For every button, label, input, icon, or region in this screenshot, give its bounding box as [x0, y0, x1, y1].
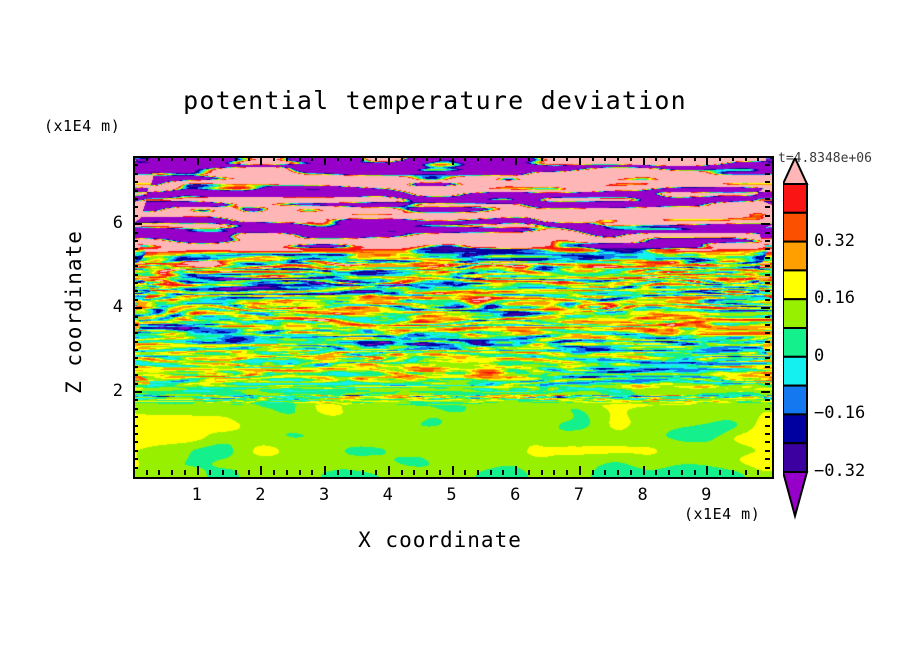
- x-tick-minor: [158, 470, 160, 475]
- x-tick-minor: [553, 470, 555, 475]
- x-tick-minor-top: [146, 156, 148, 161]
- x-tick-minor-top: [158, 156, 160, 161]
- x-tick-minor-top: [350, 156, 352, 161]
- x-tick-minor-top: [732, 156, 734, 161]
- x-tick-minor: [464, 470, 466, 475]
- x-tick-major: [706, 466, 708, 475]
- x-tick-minor: [350, 470, 352, 475]
- colorbar-overflow-arrow-top: [783, 158, 807, 184]
- x-tick-minor: [592, 470, 594, 475]
- x-tick-minor: [337, 470, 339, 475]
- x-tick-minor-top: [719, 156, 721, 161]
- y-tick-minor-right: [765, 341, 770, 343]
- x-tick-minor: [426, 470, 428, 475]
- y-tick-minor-right: [765, 450, 770, 452]
- y-tick-minor-right: [765, 173, 770, 175]
- x-tick-major-top: [643, 156, 645, 165]
- colorbar-segment: [783, 414, 807, 443]
- x-tick-minor-top: [617, 156, 619, 161]
- x-tick-minor-top: [311, 156, 313, 161]
- x-tick-minor: [439, 470, 441, 475]
- x-tick-label: 3: [309, 485, 339, 505]
- x-tick-minor-top: [171, 156, 173, 161]
- x-tick-major: [643, 466, 645, 475]
- x-tick-minor-top: [464, 156, 466, 161]
- x-tick-major-top: [388, 156, 390, 165]
- y-tick-minor-right: [765, 349, 770, 351]
- y-tick-minor-right: [765, 282, 770, 284]
- y-tick-minor: [133, 425, 138, 427]
- x-tick-minor: [541, 470, 543, 475]
- y-tick-minor: [133, 433, 138, 435]
- colorbar-segment: [783, 357, 807, 386]
- y-tick-minor-right: [765, 232, 770, 234]
- x-tick-major: [388, 466, 390, 475]
- x-tick-minor: [248, 470, 250, 475]
- colorbar-tick-label: −0.16: [814, 403, 865, 423]
- x-tick-minor-top: [592, 156, 594, 161]
- y-tick-minor: [133, 232, 138, 234]
- y-tick-minor-right: [765, 164, 770, 166]
- x-tick-minor: [719, 470, 721, 475]
- y-tick-minor: [133, 332, 138, 334]
- x-tick-major-top: [324, 156, 326, 165]
- heatmap-plot-area[interactable]: [133, 156, 774, 479]
- x-tick-minor-top: [235, 156, 237, 161]
- y-tick-label: 4: [93, 297, 123, 317]
- y-tick-minor: [133, 467, 138, 469]
- colorbar-segment: [783, 443, 807, 472]
- y-tick-minor-right: [765, 324, 770, 326]
- y-tick-minor: [133, 173, 138, 175]
- x-tick-minor-top: [757, 156, 759, 161]
- y-tick-minor-right: [765, 206, 770, 208]
- y-tick-minor: [133, 349, 138, 351]
- x-tick-minor-top: [439, 156, 441, 161]
- y-tick-minor-right: [765, 248, 770, 250]
- colorbar-tick-label: 0: [814, 346, 824, 366]
- x-tick-minor-top: [502, 156, 504, 161]
- x-tick-minor-top: [553, 156, 555, 161]
- x-tick-minor: [146, 470, 148, 475]
- x-tick-minor-top: [604, 156, 606, 161]
- y-tick-minor: [133, 206, 138, 208]
- y-tick-minor: [133, 399, 138, 401]
- x-tick-label: 7: [564, 485, 594, 505]
- x-tick-minor-top: [273, 156, 275, 161]
- y-tick-minor: [133, 408, 138, 410]
- x-tick-minor-top: [286, 156, 288, 161]
- x-tick-minor-top: [541, 156, 543, 161]
- x-axis-title-text: X coordinate: [358, 528, 522, 552]
- x-tick-major-top: [197, 156, 199, 165]
- y-axis-title-text: Z coordinate: [62, 222, 86, 402]
- y-tick-major: [133, 391, 142, 393]
- y-tick-minor-right: [765, 215, 770, 217]
- x-tick-minor: [273, 470, 275, 475]
- page-title-text: potential temperature deviation: [183, 86, 687, 115]
- x-tick-minor-top: [426, 156, 428, 161]
- y-axis-title: Z coordinate: [62, 226, 86, 324]
- figure-root: potential temperature deviation (x1E4 m)…: [0, 0, 904, 654]
- y-tick-minor: [133, 248, 138, 250]
- x-tick-minor-top: [681, 156, 683, 161]
- x-tick-major-top: [515, 156, 517, 165]
- y-tick-minor: [133, 282, 138, 284]
- x-tick-minor-top: [362, 156, 364, 161]
- x-tick-minor: [286, 470, 288, 475]
- x-tick-minor: [209, 470, 211, 475]
- y-axis-unit-label: (x1E4 m): [44, 117, 120, 135]
- colorbar-tick-label: 0.32: [814, 231, 855, 251]
- y-tick-minor-right: [765, 408, 770, 410]
- y-tick-minor: [133, 190, 138, 192]
- x-tick-minor: [477, 470, 479, 475]
- y-tick-minor-right: [765, 316, 770, 318]
- x-tick-minor: [362, 470, 364, 475]
- x-axis-unit-label: (x1E4 m): [684, 505, 760, 523]
- y-tick-minor: [133, 441, 138, 443]
- page-title: potential temperature deviation: [0, 86, 904, 115]
- colorbar-segment: [783, 328, 807, 357]
- x-tick-minor: [681, 470, 683, 475]
- y-tick-minor: [133, 366, 138, 368]
- y-tick-minor-right: [765, 274, 770, 276]
- x-tick-label: 2: [245, 485, 275, 505]
- x-tick-minor: [617, 470, 619, 475]
- x-tick-minor-top: [413, 156, 415, 161]
- x-tick-label: 1: [182, 485, 212, 505]
- y-tick-minor: [133, 357, 138, 359]
- y-tick-minor-right: [765, 332, 770, 334]
- y-tick-minor: [133, 458, 138, 460]
- y-tick-minor-right: [765, 257, 770, 259]
- x-tick-minor: [745, 470, 747, 475]
- y-tick-major-right: [761, 223, 770, 225]
- x-tick-major: [324, 466, 326, 475]
- y-tick-minor: [133, 240, 138, 242]
- x-tick-minor: [668, 470, 670, 475]
- x-tick-minor: [299, 470, 301, 475]
- x-tick-minor: [757, 470, 759, 475]
- x-tick-minor-top: [655, 156, 657, 161]
- x-tick-major-top: [706, 156, 708, 165]
- x-tick-minor-top: [566, 156, 568, 161]
- x-tick-minor-top: [477, 156, 479, 161]
- colorbar-segment: [783, 270, 807, 299]
- y-tick-minor: [133, 181, 138, 183]
- x-tick-minor-top: [299, 156, 301, 161]
- y-tick-minor: [133, 198, 138, 200]
- x-tick-major: [260, 466, 262, 475]
- x-tick-minor-top: [694, 156, 696, 161]
- y-tick-label: 2: [93, 381, 123, 401]
- y-tick-minor-right: [765, 433, 770, 435]
- y-tick-minor-right: [765, 425, 770, 427]
- y-tick-minor: [133, 164, 138, 166]
- x-tick-minor-top: [668, 156, 670, 161]
- x-tick-major-top: [260, 156, 262, 165]
- y-tick-minor-right: [765, 190, 770, 192]
- x-tick-minor-top: [528, 156, 530, 161]
- x-tick-label: 8: [628, 485, 658, 505]
- x-tick-minor-top: [248, 156, 250, 161]
- y-tick-minor-right: [765, 416, 770, 418]
- x-tick-minor-top: [745, 156, 747, 161]
- x-tick-minor-top: [184, 156, 186, 161]
- y-tick-minor-right: [765, 383, 770, 385]
- x-tick-minor-top: [337, 156, 339, 161]
- y-tick-minor: [133, 257, 138, 259]
- x-tick-minor-top: [401, 156, 403, 161]
- y-tick-minor-right: [765, 265, 770, 267]
- y-tick-minor-right: [765, 299, 770, 301]
- x-tick-minor: [694, 470, 696, 475]
- y-tick-major-right: [761, 307, 770, 309]
- x-tick-label: 4: [373, 485, 403, 505]
- y-tick-minor: [133, 215, 138, 217]
- x-tick-minor: [490, 470, 492, 475]
- x-tick-minor: [566, 470, 568, 475]
- colorbar-overflow-arrow-bottom: [783, 472, 807, 516]
- x-tick-minor: [732, 470, 734, 475]
- x-tick-minor-top: [209, 156, 211, 161]
- x-tick-minor: [375, 470, 377, 475]
- y-tick-minor: [133, 324, 138, 326]
- x-tick-major: [515, 466, 517, 475]
- y-tick-minor-right: [765, 240, 770, 242]
- y-tick-minor-right: [765, 458, 770, 460]
- colorbar-tick-label: −0.32: [814, 461, 865, 481]
- x-tick-minor-top: [490, 156, 492, 161]
- y-tick-major: [133, 223, 142, 225]
- y-tick-label: 6: [93, 213, 123, 233]
- y-tick-minor-right: [765, 357, 770, 359]
- x-tick-minor: [311, 470, 313, 475]
- y-tick-minor-right: [765, 441, 770, 443]
- x-tick-minor: [222, 470, 224, 475]
- x-tick-minor: [502, 470, 504, 475]
- y-tick-major: [133, 307, 142, 309]
- y-tick-minor-right: [765, 198, 770, 200]
- y-tick-minor-right: [765, 399, 770, 401]
- colorbar-tick-label: 0.16: [814, 288, 855, 308]
- colorbar-segment: [783, 242, 807, 271]
- y-tick-minor: [133, 274, 138, 276]
- y-tick-minor: [133, 416, 138, 418]
- y-tick-minor-right: [765, 467, 770, 469]
- y-tick-minor: [133, 374, 138, 376]
- colorbar-segment: [783, 184, 807, 213]
- x-tick-major-top: [579, 156, 581, 165]
- y-tick-minor: [133, 341, 138, 343]
- y-tick-minor: [133, 316, 138, 318]
- heatmap-canvas: [135, 158, 772, 477]
- x-tick-major-top: [452, 156, 454, 165]
- x-tick-major: [197, 466, 199, 475]
- x-tick-minor: [528, 470, 530, 475]
- x-tick-minor: [235, 470, 237, 475]
- y-tick-minor-right: [765, 181, 770, 183]
- colorbar-segment: [783, 299, 807, 328]
- y-tick-major-right: [761, 391, 770, 393]
- y-tick-minor: [133, 383, 138, 385]
- colorbar-segment: [783, 213, 807, 242]
- x-tick-minor: [413, 470, 415, 475]
- y-tick-minor-right: [765, 374, 770, 376]
- x-tick-minor: [184, 470, 186, 475]
- x-tick-minor: [604, 470, 606, 475]
- y-tick-minor-right: [765, 290, 770, 292]
- x-tick-major: [579, 466, 581, 475]
- x-tick-minor: [630, 470, 632, 475]
- x-tick-label: 5: [437, 485, 467, 505]
- y-tick-minor: [133, 450, 138, 452]
- x-tick-minor-top: [630, 156, 632, 161]
- x-tick-minor-top: [222, 156, 224, 161]
- x-tick-label: 6: [500, 485, 530, 505]
- x-tick-label: 9: [691, 485, 721, 505]
- x-axis-title: X coordinate: [0, 528, 904, 552]
- x-tick-minor: [655, 470, 657, 475]
- x-tick-major: [452, 466, 454, 475]
- x-tick-minor: [401, 470, 403, 475]
- x-tick-minor: [171, 470, 173, 475]
- y-tick-minor: [133, 290, 138, 292]
- y-tick-minor: [133, 299, 138, 301]
- colorbar-segment: [783, 386, 807, 415]
- y-tick-minor: [133, 265, 138, 267]
- y-tick-minor-right: [765, 366, 770, 368]
- x-tick-minor-top: [375, 156, 377, 161]
